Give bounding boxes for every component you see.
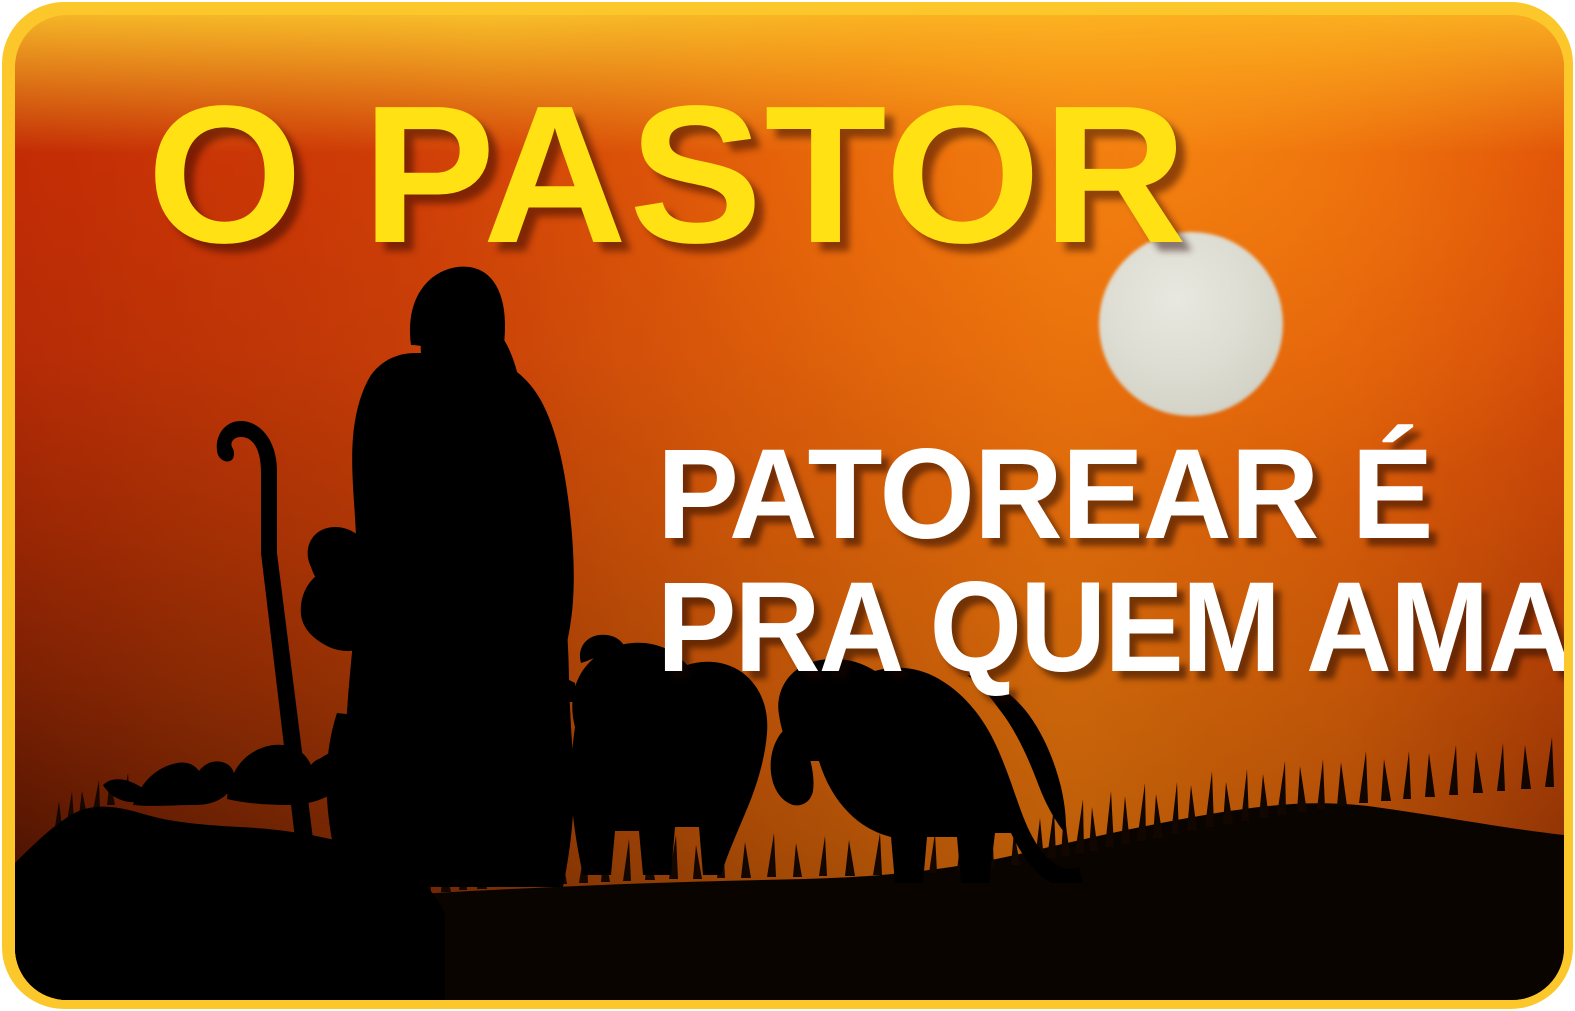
gold-border-frame: O PASTOR PATOREAR É PRA QUEM AMA [2,2,1573,1009]
artwork-scene: O PASTOR PATOREAR É PRA QUEM AMA [15,15,1564,1000]
tagline-line-1: PATOREAR É [657,430,1415,561]
banner-title: O PASTOR [147,77,1189,273]
tagline-line-2: PRA QUEM AMA [657,563,1392,694]
banner-tagline: PATOREAR É PRA QUEM AMA [657,430,1447,693]
banner-card: O PASTOR PATOREAR É PRA QUEM AMA [0,0,1575,1011]
